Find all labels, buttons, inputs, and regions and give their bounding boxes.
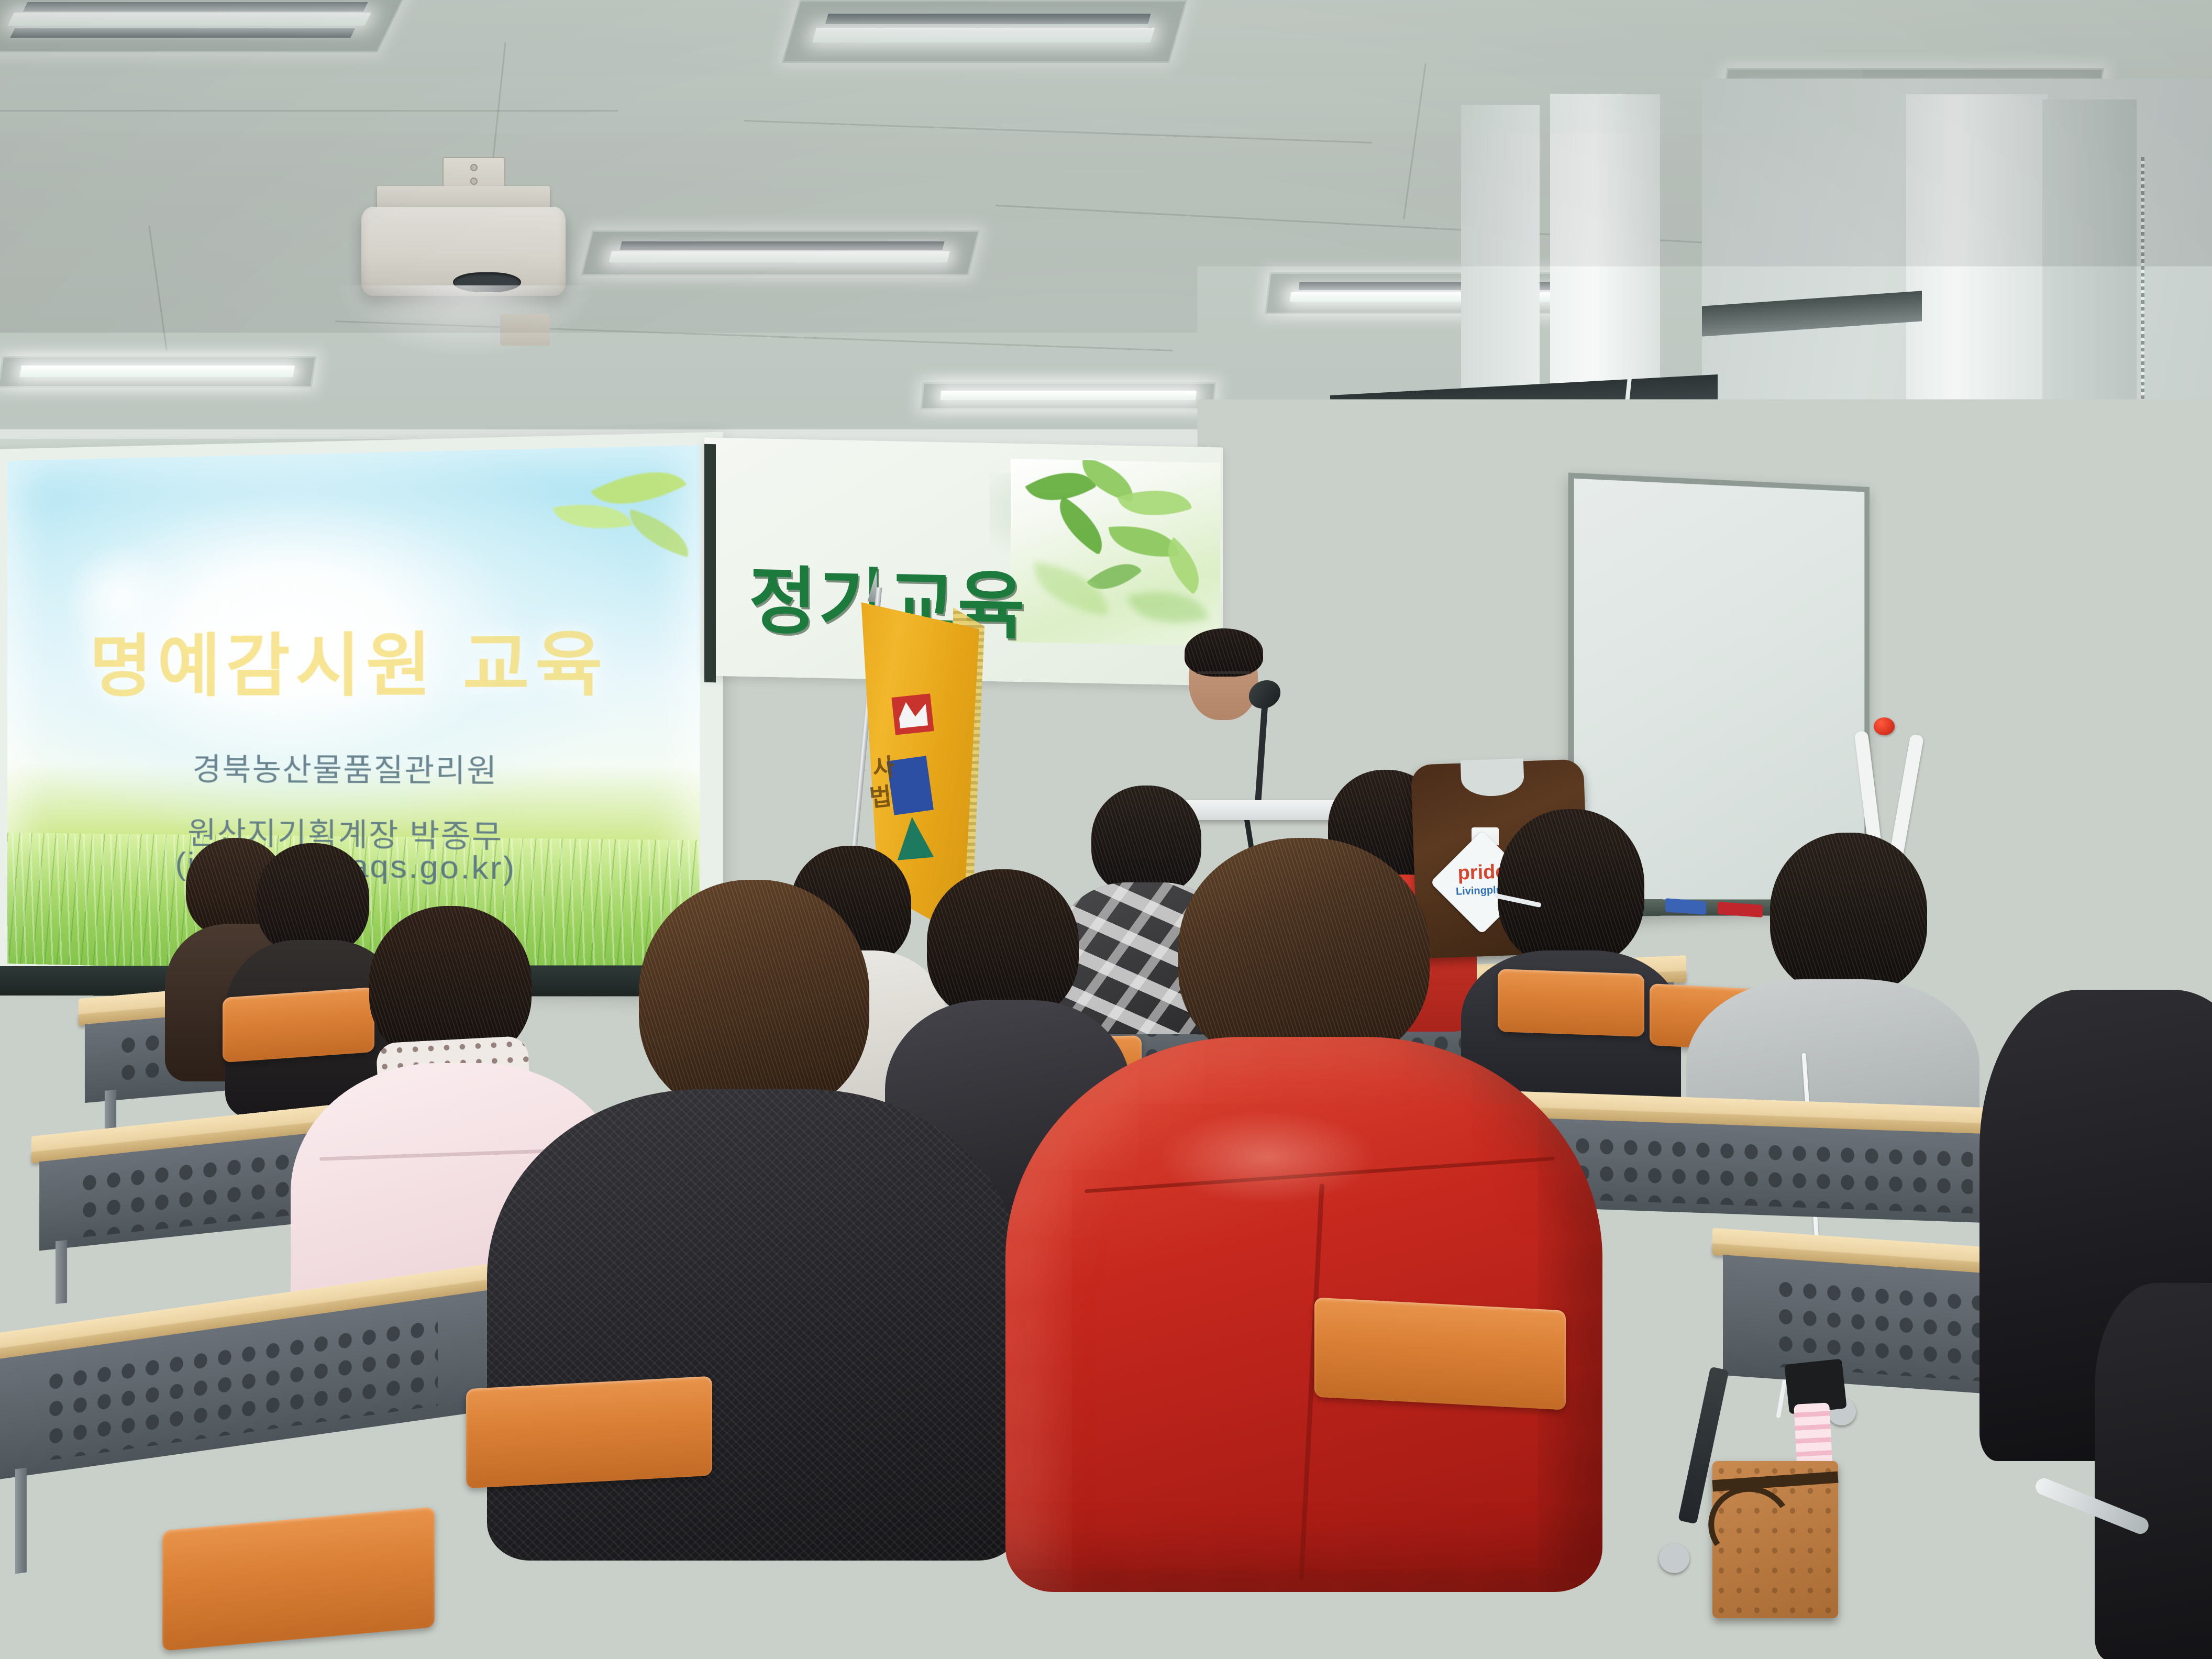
chair-back-front-left[interactable] [466, 1376, 712, 1489]
chair-caster-1 [1659, 1544, 1689, 1573]
speaker-hair [1185, 628, 1263, 677]
blind-pull-chain[interactable] [2141, 157, 2144, 744]
attendee-jacket-highlight [1157, 1110, 1377, 1204]
flag-emblem-red [891, 693, 934, 735]
ceiling-light-2 [782, 0, 1187, 63]
attendee-head [1178, 838, 1430, 1068]
ceiling-light-4 [581, 230, 979, 275]
chair-back-left-1[interactable] [223, 987, 374, 1063]
attendee-head [257, 843, 369, 956]
attendee-head [639, 880, 869, 1115]
whiteboard-eraser[interactable] [1665, 898, 1706, 914]
flag-text-line-2: 법 [868, 777, 893, 814]
ceiling-light-6 [0, 356, 317, 388]
chair-back-front-center[interactable] [1314, 1297, 1566, 1410]
banner-left-edge [704, 444, 716, 682]
attendee-head [1498, 809, 1644, 966]
attendee-head [1091, 786, 1201, 895]
wall-speaker-black [1299, 434, 1367, 513]
projector-ceiling-fixture [500, 314, 550, 346]
attendee-body [2095, 1283, 2212, 1659]
seminar-room-photo: 명예감시원 교육 경북농산물품질관리원 원산지기획계장 박종무 (jmpark@… [0, 0, 2212, 1659]
ceiling-light-1 [0, 0, 408, 52]
slide-organization: 경북농산물품질관리원 [7, 744, 700, 792]
attendee-head [927, 869, 1079, 1021]
attendee-jacket-weave [487, 1089, 1021, 1561]
chair-back-front-far-left[interactable] [162, 1507, 435, 1651]
speaker-glasses [1197, 671, 1251, 680]
handbag-red-brown[interactable] [1945, 1571, 2066, 1659]
attendee-head [1770, 833, 1927, 995]
handbag-brown[interactable] [1712, 1461, 1838, 1618]
whiteboard-knob-top[interactable] [1874, 717, 1895, 735]
banner-leaf-photo [1011, 459, 1220, 646]
slide-title: 명예감시원 교육 [7, 606, 700, 710]
ceiling-light-7 [921, 382, 1216, 410]
projector-light-beam [335, 285, 597, 359]
chair-back-right-1[interactable] [1498, 969, 1644, 1037]
